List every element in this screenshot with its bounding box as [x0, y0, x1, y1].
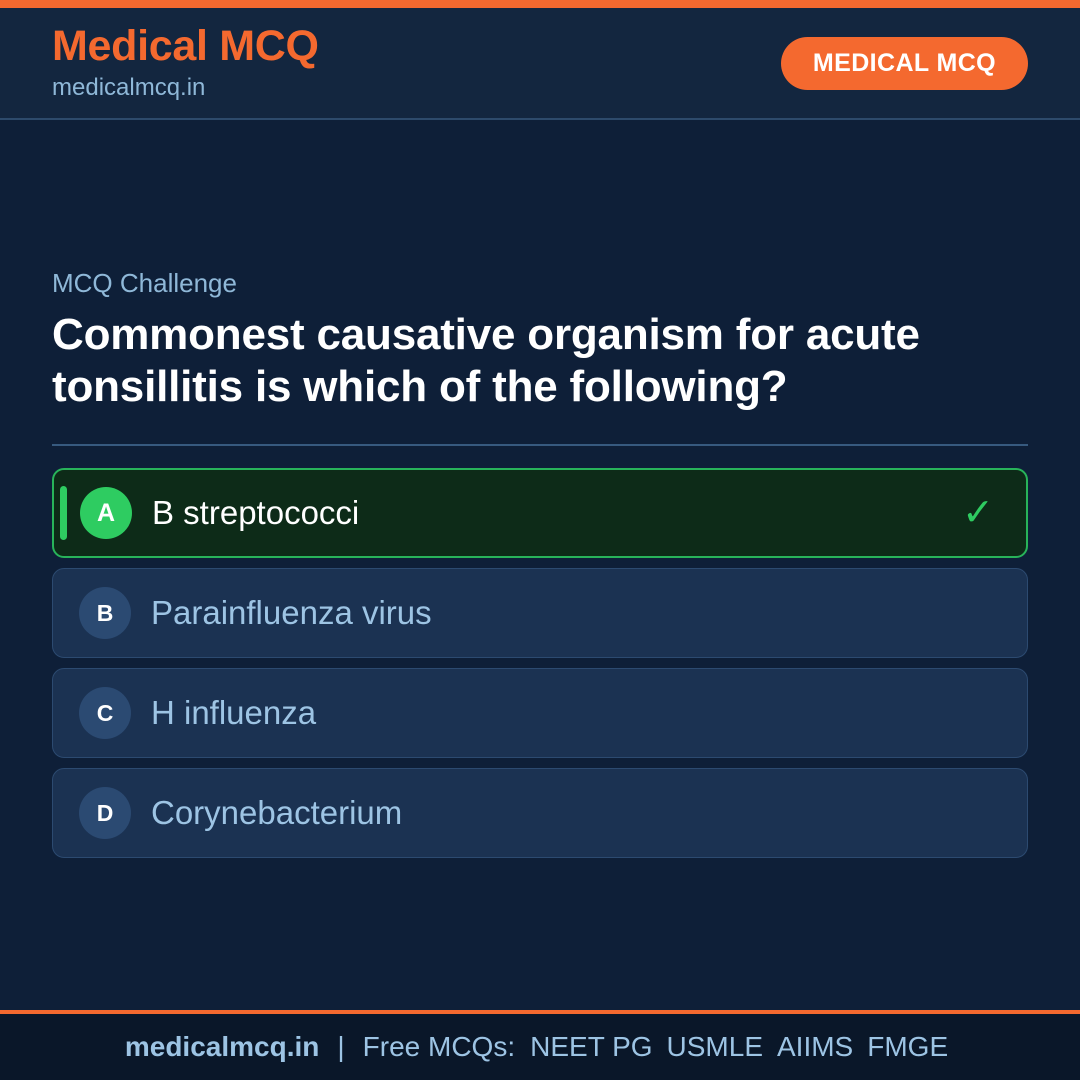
option-c[interactable]: C H influenza ✓ [52, 668, 1028, 758]
main-content: MCQ Challenge Commonest causative organi… [0, 120, 1080, 1010]
footer-label: Free MCQs: [363, 1031, 523, 1063]
question-divider [52, 444, 1028, 446]
option-d-letter-badge: D [79, 787, 131, 839]
top-spacer [52, 120, 1028, 268]
option-d[interactable]: D Corynebacterium ✓ [52, 768, 1028, 858]
option-a-letter-badge: A [80, 487, 132, 539]
footer-exam-aiims[interactable]: AIIMS [770, 1031, 860, 1063]
bottom-spacer [52, 858, 1028, 1010]
footer-text: medicalmcq.in | Free MCQs: NEET PG USMLE… [125, 1031, 955, 1063]
header: Medical MCQ medicalmcq.in MEDICAL MCQ [0, 8, 1080, 120]
check-icon: ✓ [962, 494, 994, 532]
footer-exam-neet-pg[interactable]: NEET PG [523, 1031, 659, 1063]
brand-block: Medical MCQ medicalmcq.in [52, 25, 319, 103]
mcq-card: Medical MCQ medicalmcq.in MEDICAL MCQ MC… [0, 0, 1080, 1080]
option-c-text: H influenza [151, 695, 963, 731]
footer-site-link[interactable]: medicalmcq.in [125, 1031, 320, 1063]
option-d-text: Corynebacterium [151, 795, 963, 831]
eyebrow-label: MCQ Challenge [52, 268, 1028, 299]
footer-separator: | [319, 1031, 362, 1063]
options-list: A B streptococci ✓ B Parainfluenza virus… [52, 468, 1028, 858]
correct-accent-bar [60, 486, 67, 540]
brand-subtitle: medicalmcq.in [52, 73, 319, 103]
option-b[interactable]: B Parainfluenza virus ✓ [52, 568, 1028, 658]
footer-exam-fmge[interactable]: FMGE [860, 1031, 955, 1063]
option-c-letter-badge: C [79, 687, 131, 739]
option-b-text: Parainfluenza virus [151, 595, 963, 631]
option-a[interactable]: A B streptococci ✓ [52, 468, 1028, 558]
brand-title: Medical MCQ [52, 25, 319, 69]
top-accent-bar [0, 0, 1080, 8]
question-text: Commonest causative organism for acute t… [52, 309, 1028, 412]
header-badge: MEDICAL MCQ [781, 37, 1028, 90]
option-b-letter-badge: B [79, 587, 131, 639]
footer: medicalmcq.in | Free MCQs: NEET PG USMLE… [0, 1010, 1080, 1080]
footer-exam-usmle[interactable]: USMLE [660, 1031, 770, 1063]
option-a-text: B streptococci [152, 495, 962, 531]
